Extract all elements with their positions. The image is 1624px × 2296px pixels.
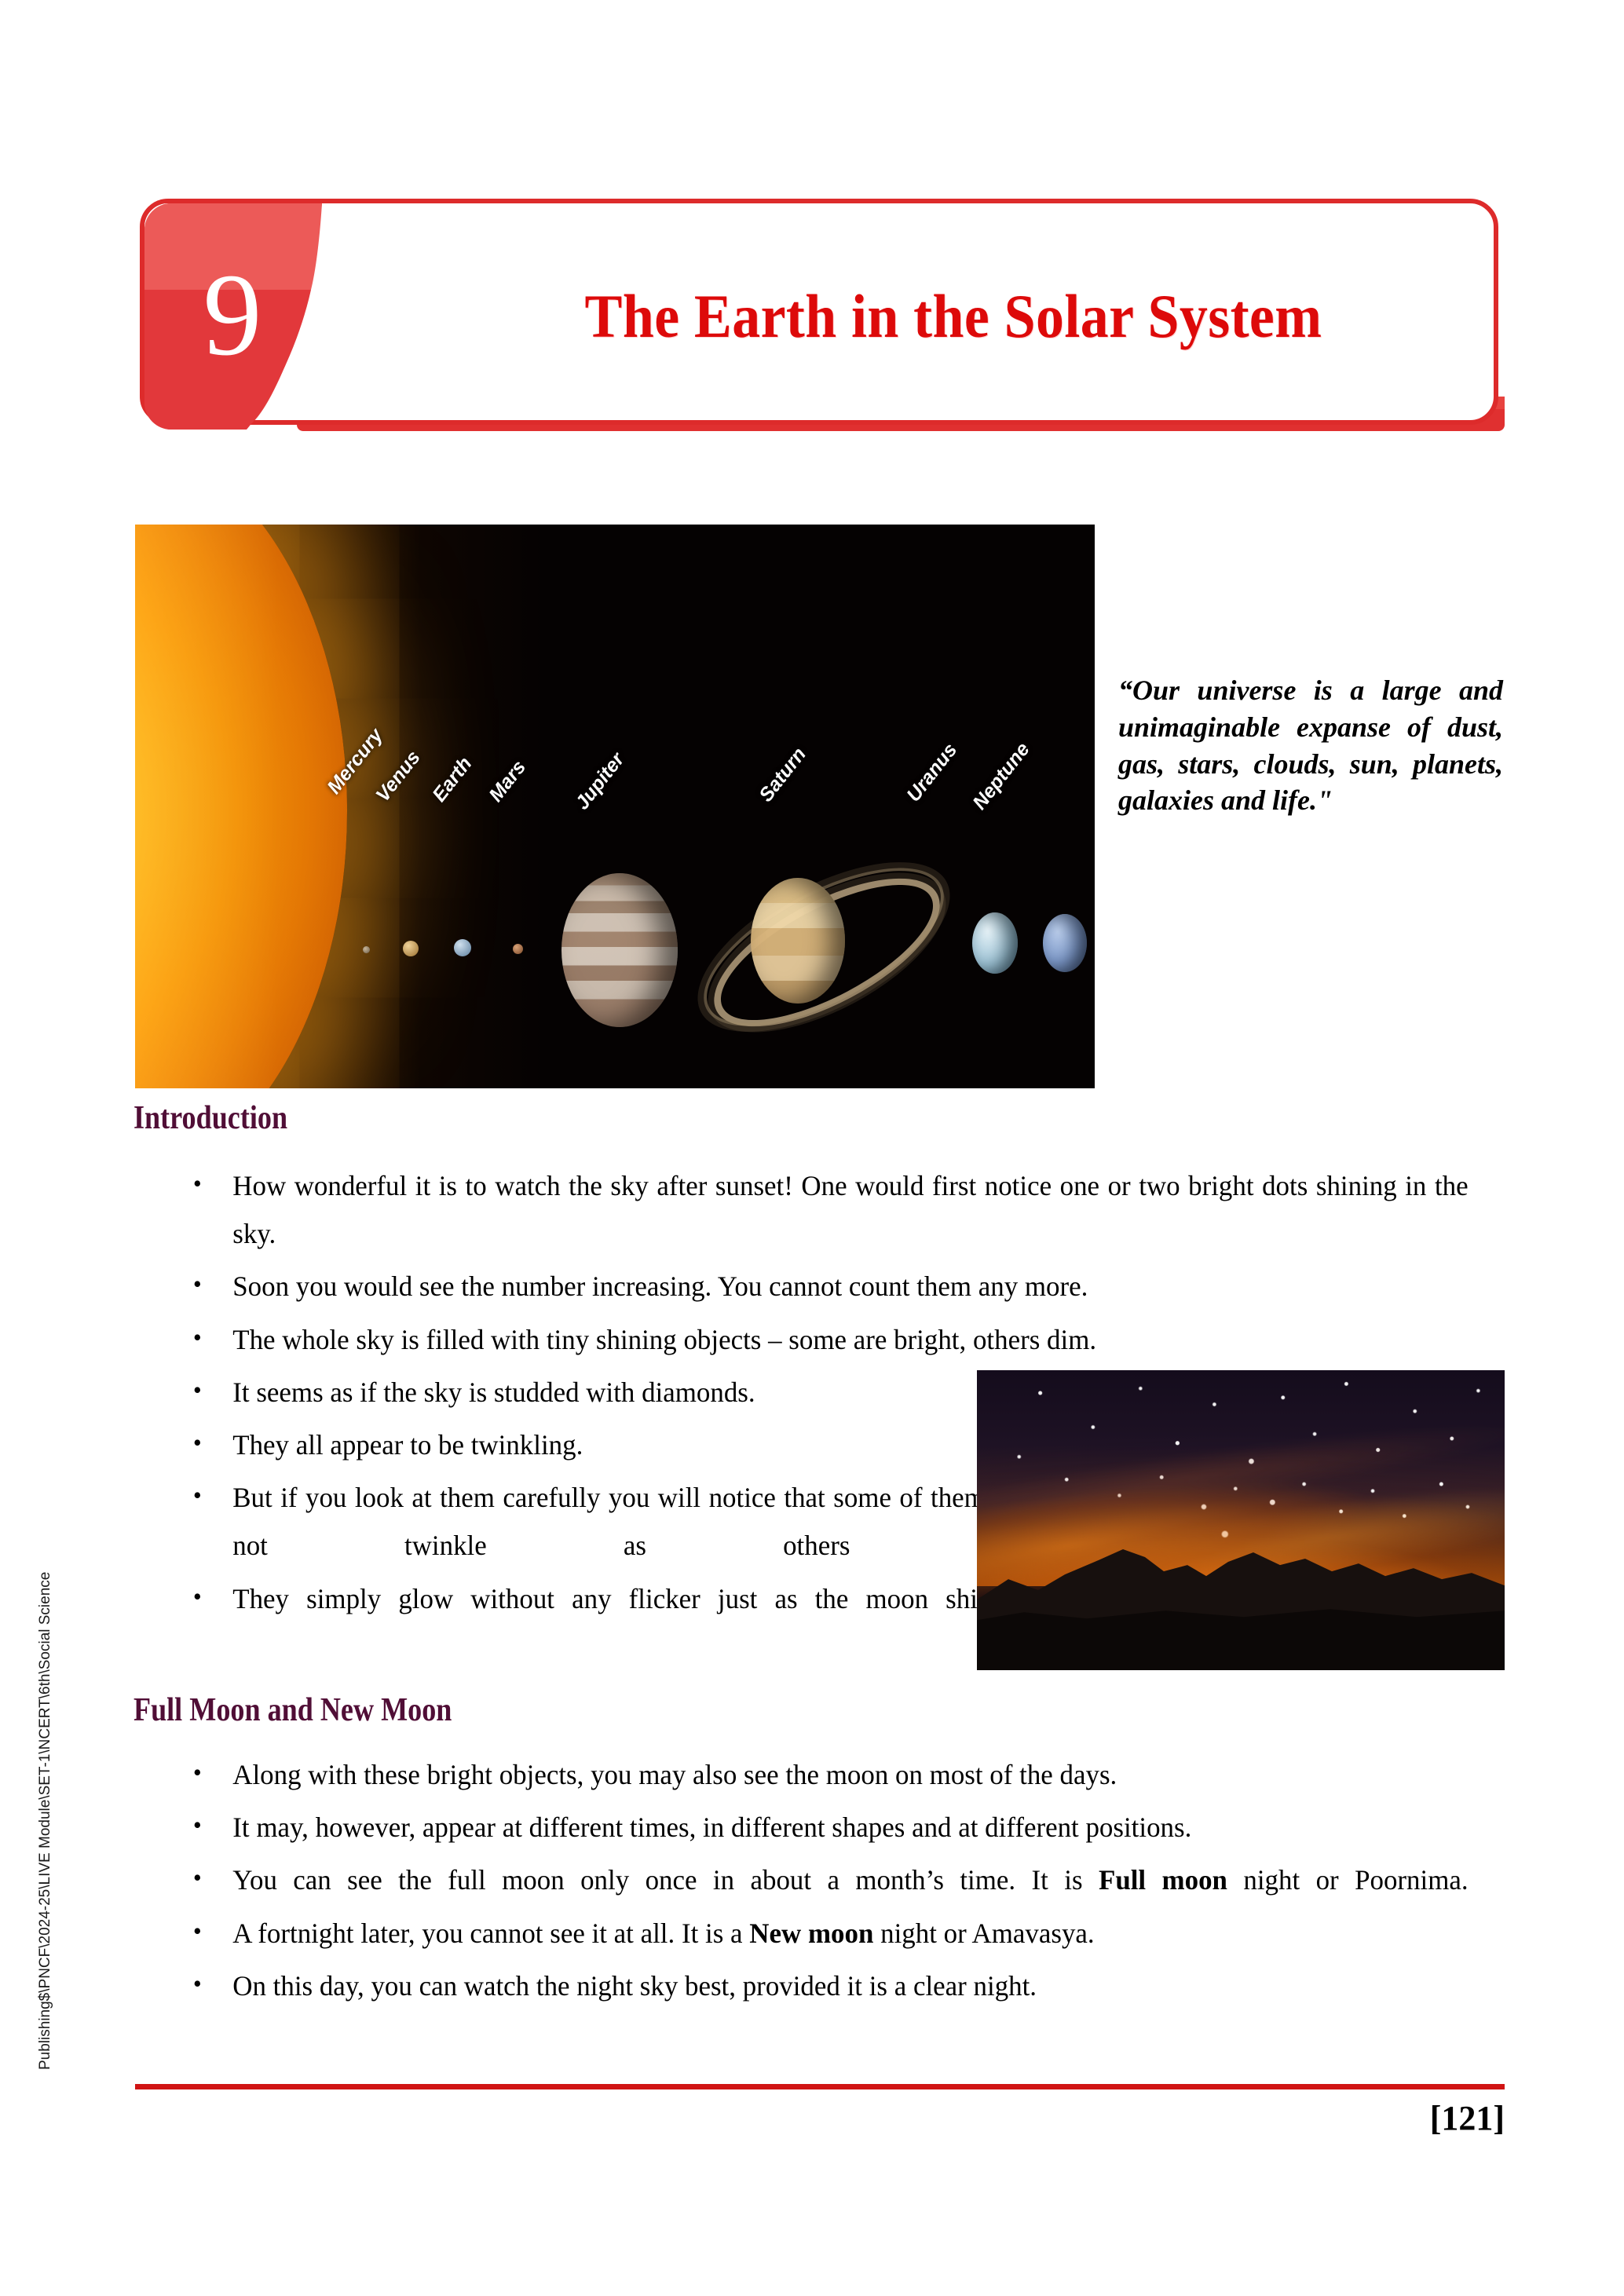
planet-label-uranus: Uranus: [902, 739, 962, 806]
list-item: Along with these bright objects, you may…: [188, 1751, 1469, 1799]
section-heading-introduction: Introduction: [134, 1099, 287, 1137]
planet-earth: [454, 939, 471, 956]
planet-neptune: [1043, 914, 1087, 972]
list-item: A fortnight later, you cannot see it at …: [188, 1910, 1469, 1958]
planet-label-saturn: Saturn: [755, 744, 811, 806]
chapter-number-badge: 9: [144, 203, 396, 430]
list-item: You can see the full moon only once in a…: [188, 1856, 1469, 1904]
planet-label-earth: Earth: [428, 753, 477, 806]
full-moon-bullet-list: Along with these bright objects, you may…: [188, 1751, 1508, 2015]
planet-label-jupiter: Jupiter: [571, 748, 629, 814]
list-item: The whole sky is filled with tiny shinin…: [188, 1316, 1469, 1364]
list-item: It may, however, appear at different tim…: [188, 1804, 1469, 1852]
planet-saturn: [751, 878, 845, 1004]
solar-system-figure: Mercury Venus Earth Mars Jupiter Saturn …: [135, 525, 1095, 1088]
night-sky-figure: [977, 1370, 1505, 1670]
planet-venus: [403, 941, 419, 956]
sunspots-overlay: [135, 525, 347, 1088]
pull-quote: “Our universe is a large and unimaginabl…: [1118, 672, 1503, 819]
list-item: How wonderful it is to watch the sky aft…: [188, 1162, 1469, 1258]
chapter-number-text: 9: [203, 250, 262, 380]
chapter-header-banner: 9 The Earth in the Solar System: [140, 199, 1505, 452]
page-number: [121]: [1430, 2098, 1505, 2138]
planet-uranus: [972, 912, 1018, 974]
section-heading-full-moon-new-moon: Full Moon and New Moon: [134, 1691, 452, 1729]
list-item: They all appear to be twinkling.: [188, 1421, 1021, 1469]
badge-shape-icon: 9: [144, 203, 396, 430]
footer-divider: [135, 2084, 1505, 2089]
planet-mercury: [363, 946, 370, 953]
planet-label-mars: Mars: [485, 756, 531, 806]
list-item: But if you look at them carefully you wi…: [188, 1474, 1021, 1570]
list-item: They simply glow without any flicker jus…: [188, 1575, 1021, 1623]
file-path-sidebar-text: Publishing$\PNCF\2024-25\LIVE Module\SET…: [37, 1552, 54, 2070]
planet-mars: [513, 944, 523, 954]
document-page: 9 The Earth in the Solar System Mercury …: [0, 0, 1624, 2296]
list-item: Soon you would see the number increasing…: [188, 1263, 1469, 1311]
banner-outline-box: 9 The Earth in the Solar System: [140, 199, 1498, 425]
planet-jupiter: [561, 873, 678, 1027]
mountain-silhouette-icon: [977, 1545, 1505, 1670]
planet-label-venus: Venus: [371, 747, 425, 806]
planet-saturn-group: [732, 870, 928, 1035]
list-item: It seems as if the sky is studded with d…: [188, 1369, 1021, 1417]
list-item: On this day, you can watch the night sky…: [188, 1962, 1469, 2010]
planet-label-neptune: Neptune: [968, 738, 1034, 814]
page-title: The Earth in the Solar System: [448, 203, 1459, 430]
